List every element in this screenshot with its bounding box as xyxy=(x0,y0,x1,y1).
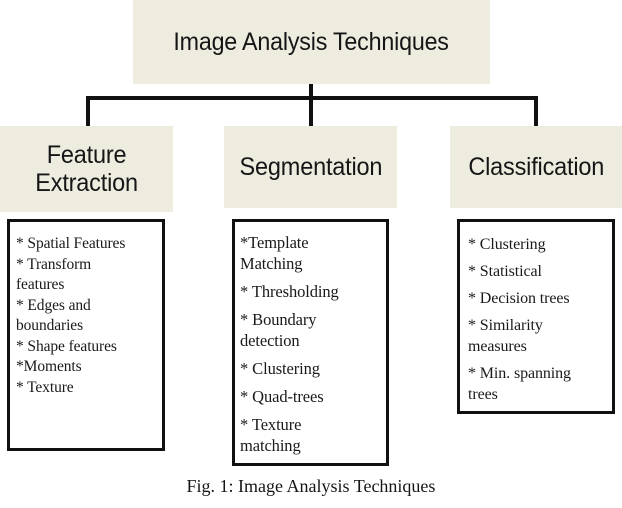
list-item: * Texture matching xyxy=(240,414,386,456)
image-analysis-techniques-diagram: Image Analysis Techniques Feature Extrac… xyxy=(0,0,622,508)
list-item: * Spatial Features xyxy=(16,234,162,255)
list-item: * Quad-trees xyxy=(240,386,386,407)
connector-drop-to-classification xyxy=(534,96,538,126)
connector-drop-to-feature-extraction xyxy=(86,96,90,126)
root-node-label: Image Analysis Techniques xyxy=(174,28,449,56)
branch-header-segmentation: Segmentation xyxy=(224,126,397,208)
list-item: * Thresholding xyxy=(240,281,386,302)
list-item: * Similarity measures xyxy=(468,315,612,357)
branch-header-label-feature-extraction: Feature Extraction xyxy=(35,141,138,197)
figure-caption: Fig. 1: Image Analysis Techniques xyxy=(0,476,622,497)
list-item: * Edges and boundaries xyxy=(16,296,162,337)
list-item: * Decision trees xyxy=(468,288,612,309)
branch-header-label-segmentation: Segmentation xyxy=(239,153,382,181)
list-item: * Statistical xyxy=(468,261,612,282)
branch-header-feature-extraction: Feature Extraction xyxy=(0,126,173,212)
branch-header-classification: Classification xyxy=(450,126,622,208)
list-item: * Clustering xyxy=(240,358,386,379)
leaf-list-items-segmentation: *Template Matching * Thresholding * Boun… xyxy=(240,232,386,456)
list-item: * Shape features xyxy=(16,337,162,358)
leaf-list-classification: * Clustering * Statistical * Decision tr… xyxy=(457,219,615,414)
list-item: * Texture xyxy=(16,378,162,399)
leaf-list-items-classification: * Clustering * Statistical * Decision tr… xyxy=(468,234,612,405)
leaf-list-items-feature-extraction: * Spatial Features * Transform features … xyxy=(16,234,162,398)
root-node-image-analysis-techniques: Image Analysis Techniques xyxy=(133,0,490,84)
list-item: * Min. spanning trees xyxy=(468,363,612,405)
list-item: *Template Matching xyxy=(240,232,386,274)
list-item: * Boundary detection xyxy=(240,309,386,351)
list-item: * Transform features xyxy=(16,255,162,296)
connector-drop-to-segmentation xyxy=(309,96,313,126)
list-item: * Clustering xyxy=(468,234,612,255)
leaf-list-feature-extraction: * Spatial Features * Transform features … xyxy=(7,219,165,451)
list-item: *Moments xyxy=(16,357,162,378)
leaf-list-segmentation: *Template Matching * Thresholding * Boun… xyxy=(232,219,389,466)
branch-header-label-classification: Classification xyxy=(468,153,604,181)
